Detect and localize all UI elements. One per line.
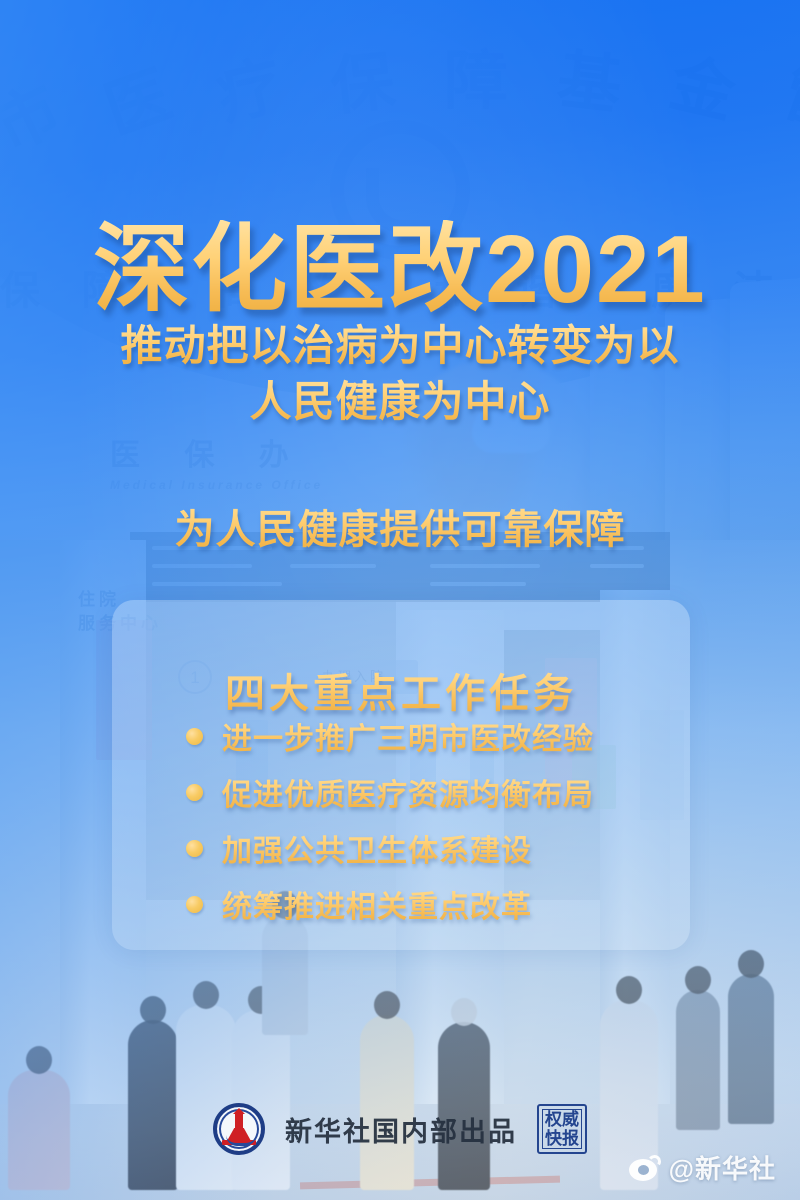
- stamp-line-1: 权威: [545, 1110, 579, 1129]
- task-label: 加强公共卫生体系建设: [222, 826, 532, 870]
- subtitle-line-1: 推动把以治病为中心转变为以: [120, 322, 679, 369]
- poster: 三明市医疗保障基金管理中心 保障 高效 和谐 廉洁 医 保 办 Medical …: [0, 0, 800, 1200]
- list-item: 统筹推进相关重点改革: [186, 876, 660, 932]
- bullet-dot-icon: [186, 840, 203, 857]
- weibo-watermark: @新华社: [629, 1149, 776, 1186]
- poster-subtitle: 推动把以治病为中心转变为以 人民健康为中心: [0, 318, 800, 430]
- xinhua-emblem-icon: [213, 1103, 265, 1155]
- task-label: 进一步推广三明市医改经验: [222, 714, 594, 758]
- stamp-line-2: 快报: [545, 1129, 579, 1148]
- task-label: 促进优质医疗资源均衡布局: [222, 770, 594, 814]
- tasks-card: 四大重点工作任务 进一步推广三明市医改经验 促进优质医疗资源均衡布局 加强公共卫…: [112, 600, 690, 950]
- poster-title: 深化医改2021: [0, 220, 800, 321]
- authority-stamp: 权威 快报: [537, 1104, 587, 1154]
- subtitle-line-2: 人民健康为中心: [0, 374, 800, 430]
- bullet-dot-icon: [186, 784, 203, 801]
- poster-tagline: 为人民健康提供可靠保障: [0, 497, 800, 555]
- weibo-eye-icon: [629, 1155, 661, 1181]
- weibo-handle: @新华社: [669, 1149, 776, 1186]
- list-item: 进一步推广三明市医改经验: [186, 708, 660, 764]
- bullet-dot-icon: [186, 728, 203, 745]
- producer-credit: 新华社国内部出品: [285, 1110, 517, 1149]
- poster-content: 深化医改2021 推动把以治病为中心转变为以 人民健康为中心 为人民健康提供可靠…: [0, 0, 800, 1200]
- task-label: 统筹推进相关重点改革: [222, 882, 532, 926]
- list-item: 促进优质医疗资源均衡布局: [186, 764, 660, 820]
- bullet-dot-icon: [186, 896, 203, 913]
- list-item: 加强公共卫生体系建设: [186, 820, 660, 876]
- tasks-list: 进一步推广三明市医改经验 促进优质医疗资源均衡布局 加强公共卫生体系建设 统筹推…: [186, 708, 660, 932]
